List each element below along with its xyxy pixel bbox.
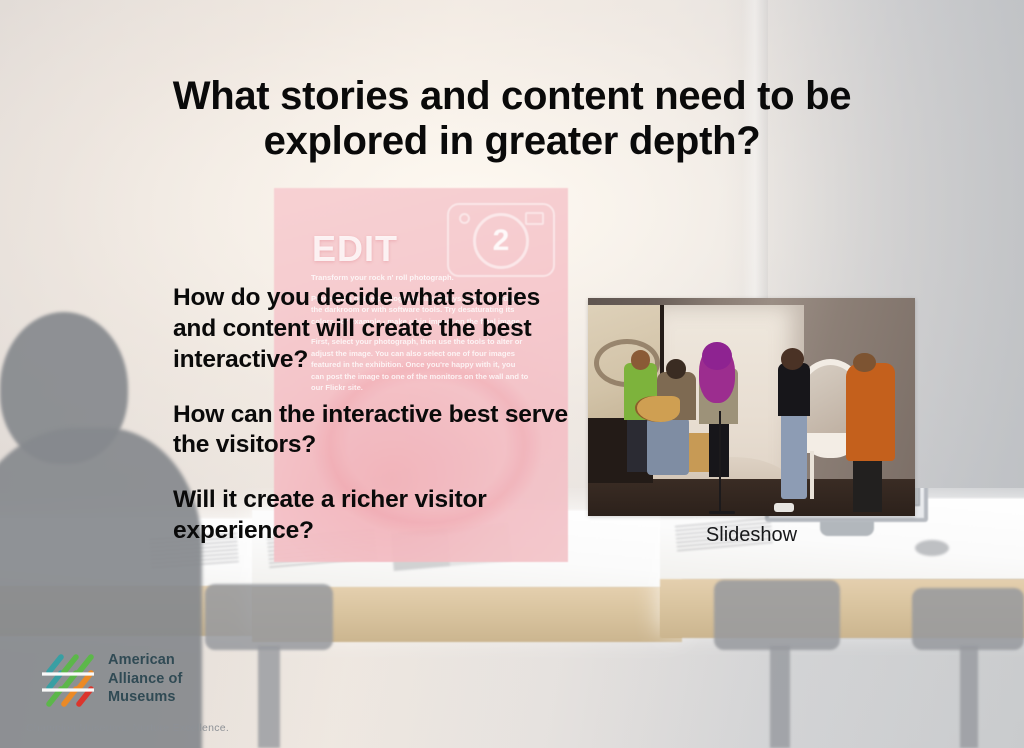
photo-person-orange-coat-legs: [853, 455, 882, 512]
photo-visitor-head: [781, 348, 804, 370]
photo-microphone-base: [709, 511, 735, 514]
question-item: Will it create a richer visitor experien…: [173, 485, 578, 547]
chair-leg-far-right: [960, 646, 978, 748]
photo-visitor-leather-jacket: [778, 363, 811, 415]
slideshow-photo: [588, 298, 915, 516]
photo-person-guitarist-head: [631, 350, 651, 370]
photo-content: [588, 298, 915, 516]
slide-canvas: 2 EDIT Transform your rock n' roll photo…: [0, 0, 1024, 748]
aam-logo-text: American Alliance of Museums: [108, 651, 182, 707]
photo-visitor-jeans: [781, 411, 807, 498]
aam-logo-line-1: American: [108, 651, 182, 670]
slide-title: What stories and content need to be expl…: [0, 74, 1024, 164]
camera-viewfinder-icon: [459, 213, 470, 224]
step-number-badge: 2: [493, 226, 510, 256]
chair-center: [205, 584, 333, 650]
camera-flash-icon: [525, 212, 544, 225]
question-item: How do you decide what stories and conte…: [173, 283, 578, 376]
camera-icon: 2: [447, 203, 555, 277]
aam-logo-mark-icon: [40, 650, 96, 708]
photo-person-orange-coat: [846, 363, 895, 461]
camera-lens-icon: 2: [473, 213, 529, 269]
aam-logo-line-2: Alliance of: [108, 670, 182, 689]
chair-far-right: [912, 588, 1024, 650]
aam-logo-tagline: Champion Museums. Nurture Excellence.: [26, 722, 229, 734]
photo-vanity-leg: [810, 451, 814, 499]
aam-logo-line-3: Museums: [108, 688, 182, 707]
photo-person-purple-wig: [702, 342, 731, 370]
chair-leg-center: [258, 646, 280, 748]
panel-paragraph: Transform your rock n' roll photograph.: [311, 272, 529, 284]
photo-caption: Slideshow: [588, 524, 915, 547]
question-list: How do you decide what stories and conte…: [173, 283, 578, 547]
photo-person-orange-coat-head: [853, 353, 876, 373]
photo-microphone-stand: [719, 411, 721, 511]
photo-visitor-shoe: [774, 503, 794, 512]
computer-mouse: [915, 540, 949, 556]
aam-logo: American Alliance of Museums: [40, 650, 182, 708]
question-item: How can the interactive best serve the v…: [173, 400, 578, 462]
chair-leg-right: [770, 646, 790, 748]
photo-person-seated-legs: [647, 418, 690, 475]
panel-heading: EDIT: [312, 228, 398, 270]
photo-person-seated-head: [666, 359, 686, 379]
chair-right: [714, 580, 840, 650]
